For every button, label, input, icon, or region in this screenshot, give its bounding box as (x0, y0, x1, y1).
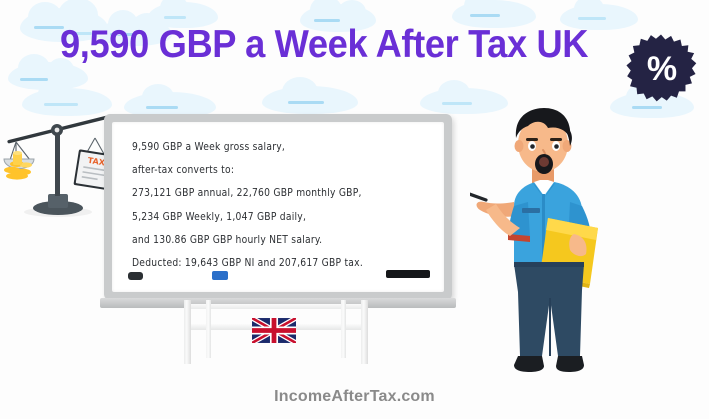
whiteboard-line-5: and 130.86 GBP GBP hourly NET salary. (132, 229, 430, 252)
dark-marker-icon (128, 272, 143, 280)
poster-canvas: 9,590 GBP a Week After Tax UK % (0, 0, 709, 419)
teacher-character (470, 106, 660, 374)
stand-leg-left (184, 300, 191, 364)
percent-symbol: % (625, 33, 697, 105)
stand-leg-left-inner (206, 300, 211, 358)
percent-badge: % (625, 33, 697, 105)
uk-flag (252, 318, 296, 343)
whiteboard-line-1: 9,590 GBP a Week gross salary, (132, 136, 430, 159)
pointer-stick (470, 172, 486, 200)
cloud-10 (262, 86, 358, 114)
whiteboard: 9,590 GBP a Week gross salary, after-tax… (104, 114, 452, 300)
eraser-icon (386, 270, 430, 278)
whiteboard-line-4: 5,234 GBP Weekly, 1,047 GBP daily, (132, 206, 430, 229)
balance-scales: TAX (0, 108, 108, 220)
whiteboard-text: 9,590 GBP a Week gross salary, after-tax… (132, 136, 430, 275)
site-watermark: IncomeAfterTax.com (0, 388, 709, 406)
blue-marker-icon (212, 271, 228, 280)
stand-leg-right (361, 300, 368, 364)
whiteboard-line-3: 273,121 GBP annual, 22,760 GBP monthly G… (132, 182, 430, 205)
page-title: 9,590 GBP a Week After Tax UK (60, 22, 590, 68)
stand-leg-right-inner (341, 300, 346, 358)
whiteboard-line-2: after-tax converts to: (132, 159, 430, 182)
whiteboard-surface: 9,590 GBP a Week gross salary, after-tax… (112, 122, 444, 292)
